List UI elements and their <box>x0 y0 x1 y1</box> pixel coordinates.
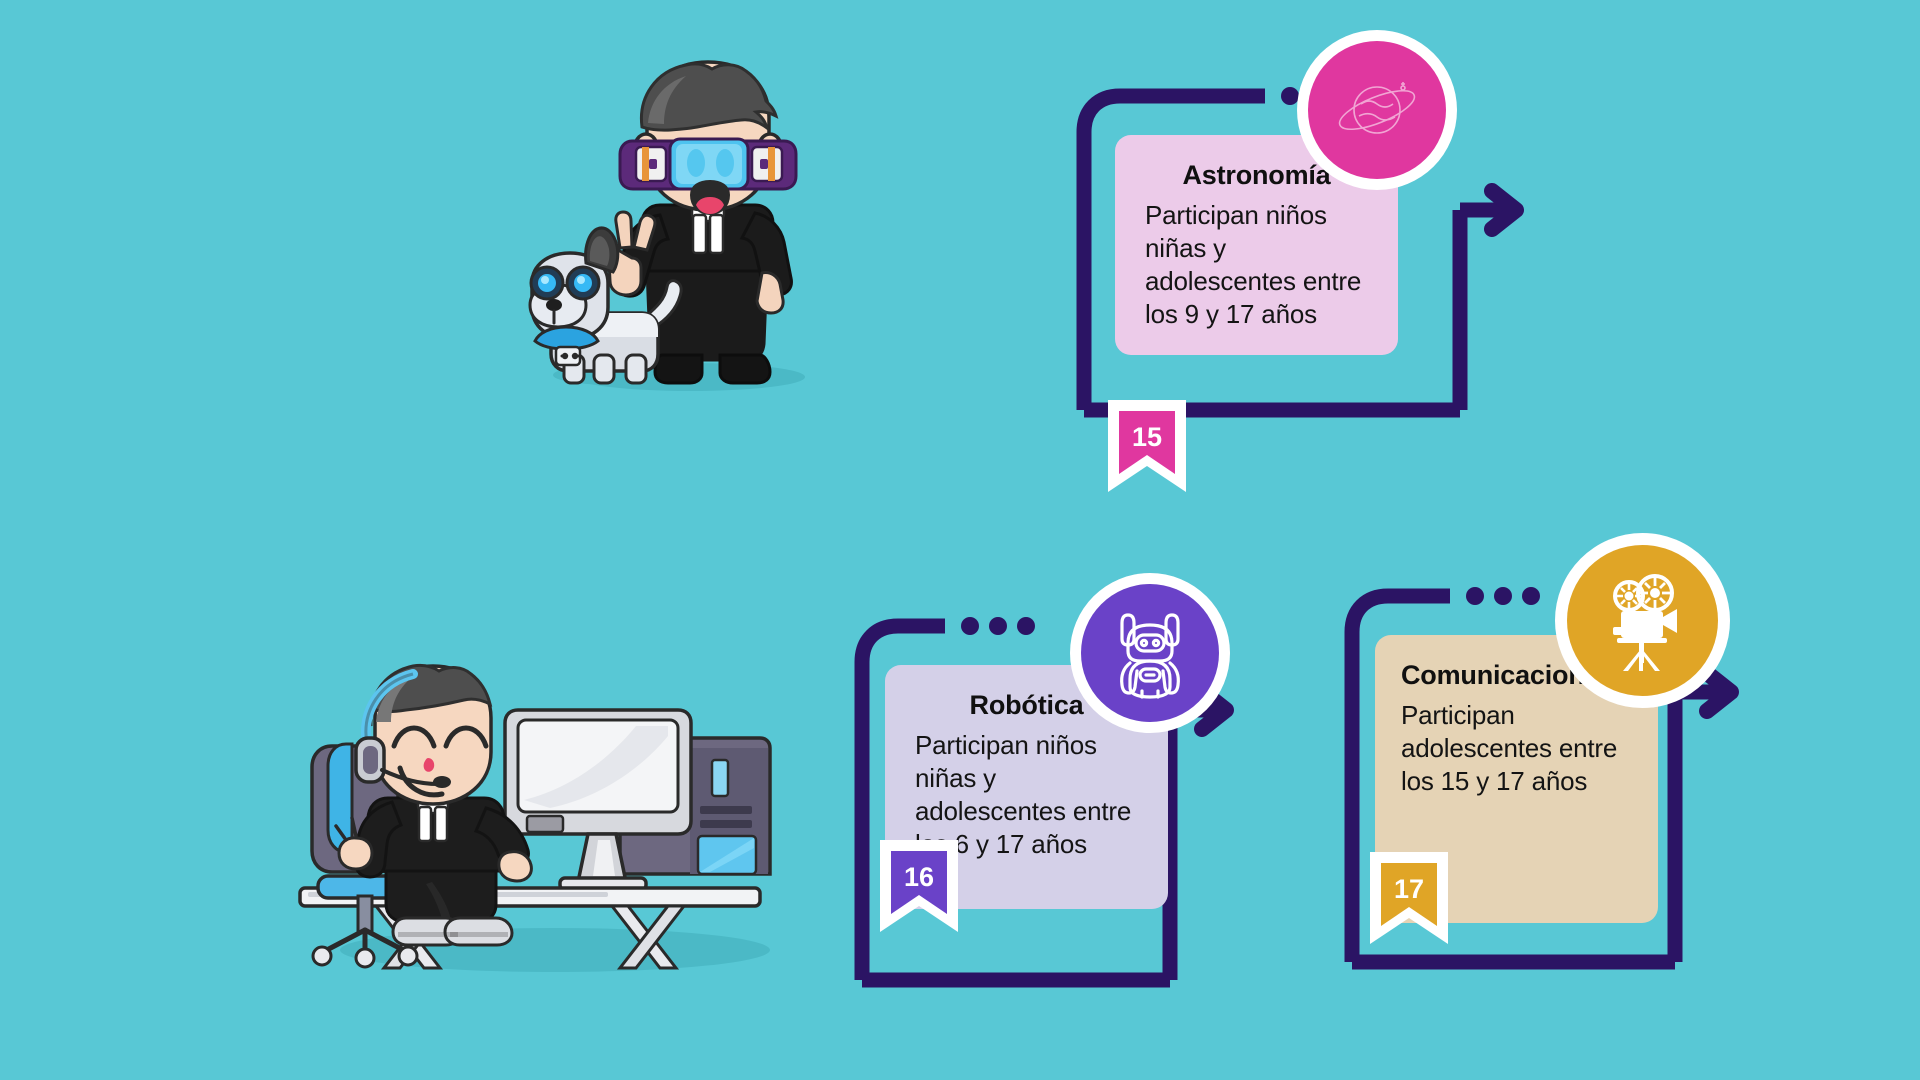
icon-badge-comunicaciones[interactable] <box>1555 533 1730 708</box>
boy-vr-headset-and-robot-dog-illustration <box>520 55 830 395</box>
step-ribbon-17: 17 <box>1370 852 1448 944</box>
robot-icon <box>1102 605 1198 701</box>
card-body-comunicaciones: Participan adolescentes entre los 15 y 1… <box>1401 699 1628 799</box>
movie-camera-icon <box>1593 571 1693 671</box>
boy-headset-at-computer-desk-illustration <box>270 650 790 980</box>
icon-badge-astronomia[interactable] <box>1297 30 1457 190</box>
infographic-canvas: Astronomía Participan niños niñas y adol… <box>0 0 1920 1080</box>
icon-badge-robotica[interactable] <box>1070 573 1230 733</box>
card-body-astronomia: Participan niños niñas y adolescentes en… <box>1145 199 1368 332</box>
step-ribbon-15: 15 <box>1108 400 1186 492</box>
planet-icon <box>1331 64 1423 156</box>
step-ribbon-16: 16 <box>880 840 958 932</box>
